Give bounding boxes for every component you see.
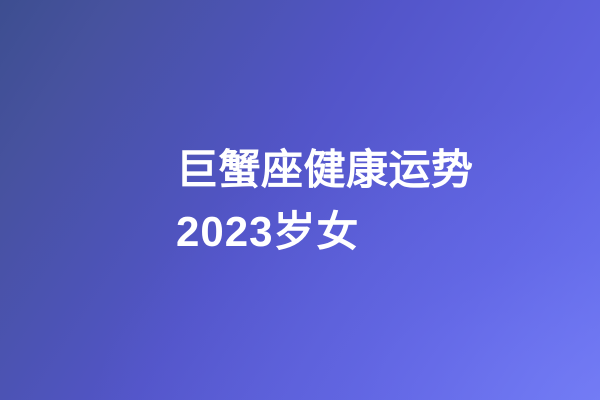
title-line-secondary: 2023岁女	[176, 201, 444, 263]
title-line-primary: 巨蟹座健康运势	[176, 139, 444, 201]
title-block: 巨蟹座健康运势 2023岁女	[176, 139, 444, 263]
banner-card: 巨蟹座健康运势 2023岁女	[0, 0, 600, 400]
